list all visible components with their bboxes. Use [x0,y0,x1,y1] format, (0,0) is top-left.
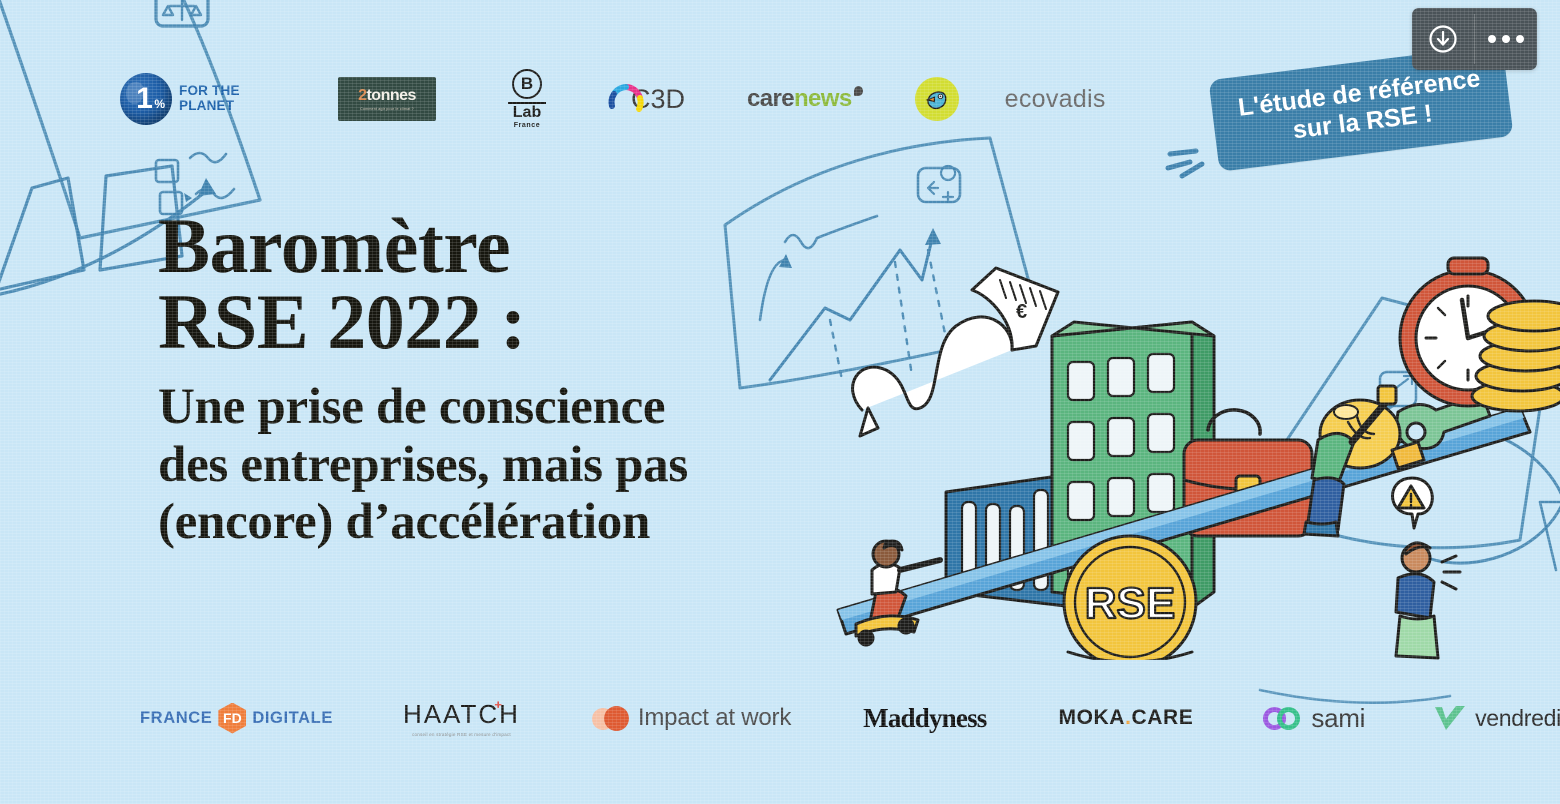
svg-text:€: € [1016,301,1027,323]
2tonnes-tagline: Comment agir pour le climat ? [360,107,414,111]
logo-c3d[interactable]: C3D [606,82,685,116]
partner-logo-strip-top: 1 % FOR THE PLANET 2tonnes Comment agir … [120,58,1180,140]
subtitle-line-1: Une prise de conscience [158,379,858,437]
title-line-1: Baromètre [158,208,858,284]
haatch-wordmark: HAATCH + [403,699,520,730]
2tonnes-box: 2tonnes Comment agir pour le climat ? [338,77,436,121]
download-button[interactable] [1412,8,1474,70]
seesaw-balance-illustration: € [800,140,1560,660]
logo-sami[interactable]: sami [1263,703,1365,734]
france-digitale-word-a: FRANCE [140,709,212,728]
logo-2tonnes[interactable]: 2tonnes Comment agir pour le climat ? [338,77,436,121]
carenews-care: care [747,85,794,112]
impact-circles-icon [592,705,630,731]
logo-vendredi[interactable]: vendredi [1433,704,1560,732]
blab-wordmark: Lab [513,105,541,122]
one-percent-line-2: PLANET [179,99,240,114]
france-digitale-hex-icon: FD [218,703,246,734]
logo-impact-at-work[interactable]: Impact at work [592,704,791,732]
one-percent-line-1: FOR THE [179,84,240,99]
subtitle-line-3: (encore) d’accélération [158,494,858,552]
haatch-tagline: conseil en stratégie RSE et mesure d'imp… [412,732,511,737]
globe-icon: 1 % [120,73,172,125]
c3d-arc-icon [606,82,640,116]
ecovadis-wordmark: ecovadis [1005,85,1106,114]
sami-circles-icon [1263,705,1303,731]
more-options-button[interactable] [1475,8,1537,70]
title-line-2: RSE 2022 : [158,284,858,360]
france-digitale-word-b: DIGITALE [252,709,333,728]
sami-wordmark: sami [1311,703,1365,734]
2tonnes-wordmark: 2tonnes [358,88,416,104]
maddyness-wordmark: Maddyness [863,703,986,734]
more-horizontal-icon [1488,35,1524,43]
download-circle-icon [1428,24,1458,54]
one-percent-wordmark: FOR THE PLANET [179,84,240,113]
carenews-news: news [794,85,852,112]
partner-logo-strip-bottom: FRANCE FD DIGITALE HAATCH + conseil en s… [140,690,1460,746]
carenews-wordmark: carenews [747,85,852,113]
logo-haatch[interactable]: HAATCH + conseil en stratégie RSE et mes… [403,699,520,737]
page-title: Baromètre RSE 2022 : [158,208,858,361]
ecovadis-badge-icon [915,77,959,121]
impact-wordmark: Impact at work [638,704,791,732]
logo-france-digitale[interactable]: FRANCE FD DIGITALE [140,703,333,734]
rse-coin-label: RSE [1085,579,1175,628]
moka-word-a: MOKA [1059,706,1126,729]
france-digitale-mark: FD [223,711,242,725]
report-cover: 1 % FOR THE PLANET 2tonnes Comment agir … [0,0,1560,804]
subtitle-line-2: des entreprises, mais pas [158,437,858,495]
percent-sign: % [154,97,165,111]
b-corp-icon: B [512,69,542,99]
moka-word-b: CARE [1132,706,1194,729]
viewer-toolbar [1412,8,1537,70]
vendredi-v-icon [1433,704,1467,732]
vendredi-wordmark: vendredi [1475,705,1560,732]
cover-headline: Baromètre RSE 2022 : Une prise de consci… [158,208,858,552]
page-subtitle: Une prise de conscience des entreprises,… [158,379,858,552]
logo-b-lab-france[interactable]: B Lab France [508,69,546,129]
logo-moka-care[interactable]: MOKA.CARE [1059,706,1194,730]
logo-ecovadis[interactable]: ecovadis [915,77,1106,121]
bird-icon [924,86,950,112]
logo-carenews[interactable]: carenews [747,85,863,113]
moka-wordmark: MOKA.CARE [1059,706,1194,730]
carenews-comma-icon [854,86,863,96]
2tonnes-rest: tonnes [366,87,415,104]
logo-maddyness[interactable]: Maddyness [863,703,986,734]
blab-country: France [514,122,541,129]
logo-one-percent-for-the-planet[interactable]: 1 % FOR THE PLANET [120,73,280,125]
haatch-plus-icon: + [494,697,504,712]
